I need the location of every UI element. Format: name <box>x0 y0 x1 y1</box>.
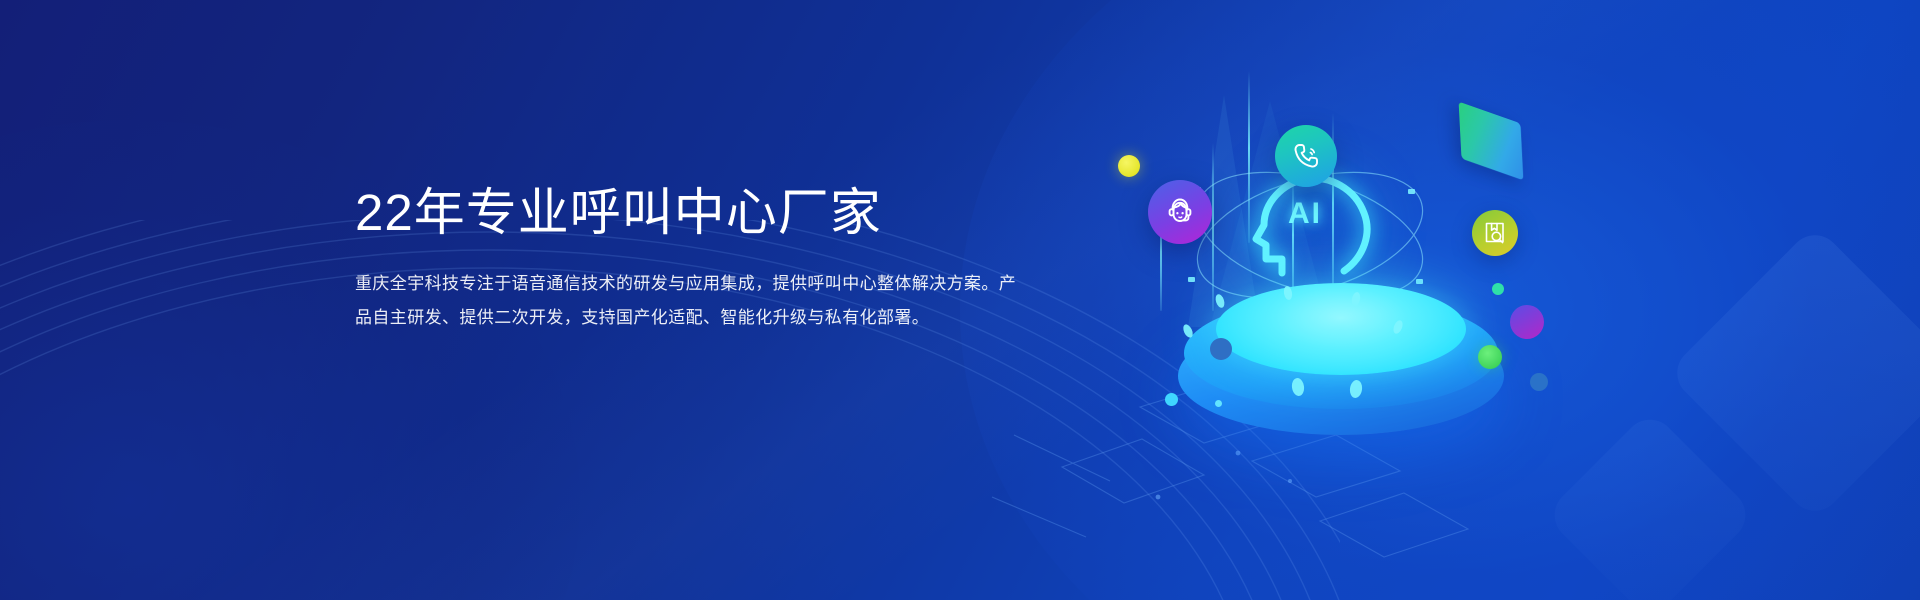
hero-banner: 22年专业呼叫中心厂家 重庆全宇科技专注于语音通信技术的研发与应用集成，提供呼叫… <box>0 0 1920 600</box>
hero-illustration: AI <box>1060 55 1620 535</box>
document-search-icon[interactable] <box>1472 210 1518 256</box>
hero-copy-block: 22年专业呼叫中心厂家 重庆全宇科技专注于语音通信技术的研发与应用集成，提供呼叫… <box>355 182 1035 335</box>
background-diamond-large <box>1667 225 1920 522</box>
phone-call-icon[interactable] <box>1275 125 1337 187</box>
hero-description: 重庆全宇科技专注于语音通信技术的研发与应用集成，提供呼叫中心整体解决方案。产品自… <box>355 267 1020 335</box>
page-title: 22年专业呼叫中心厂家 <box>355 182 1035 243</box>
podium-spark-group <box>1060 55 1620 535</box>
headset-agent-icon[interactable] <box>1148 180 1212 244</box>
